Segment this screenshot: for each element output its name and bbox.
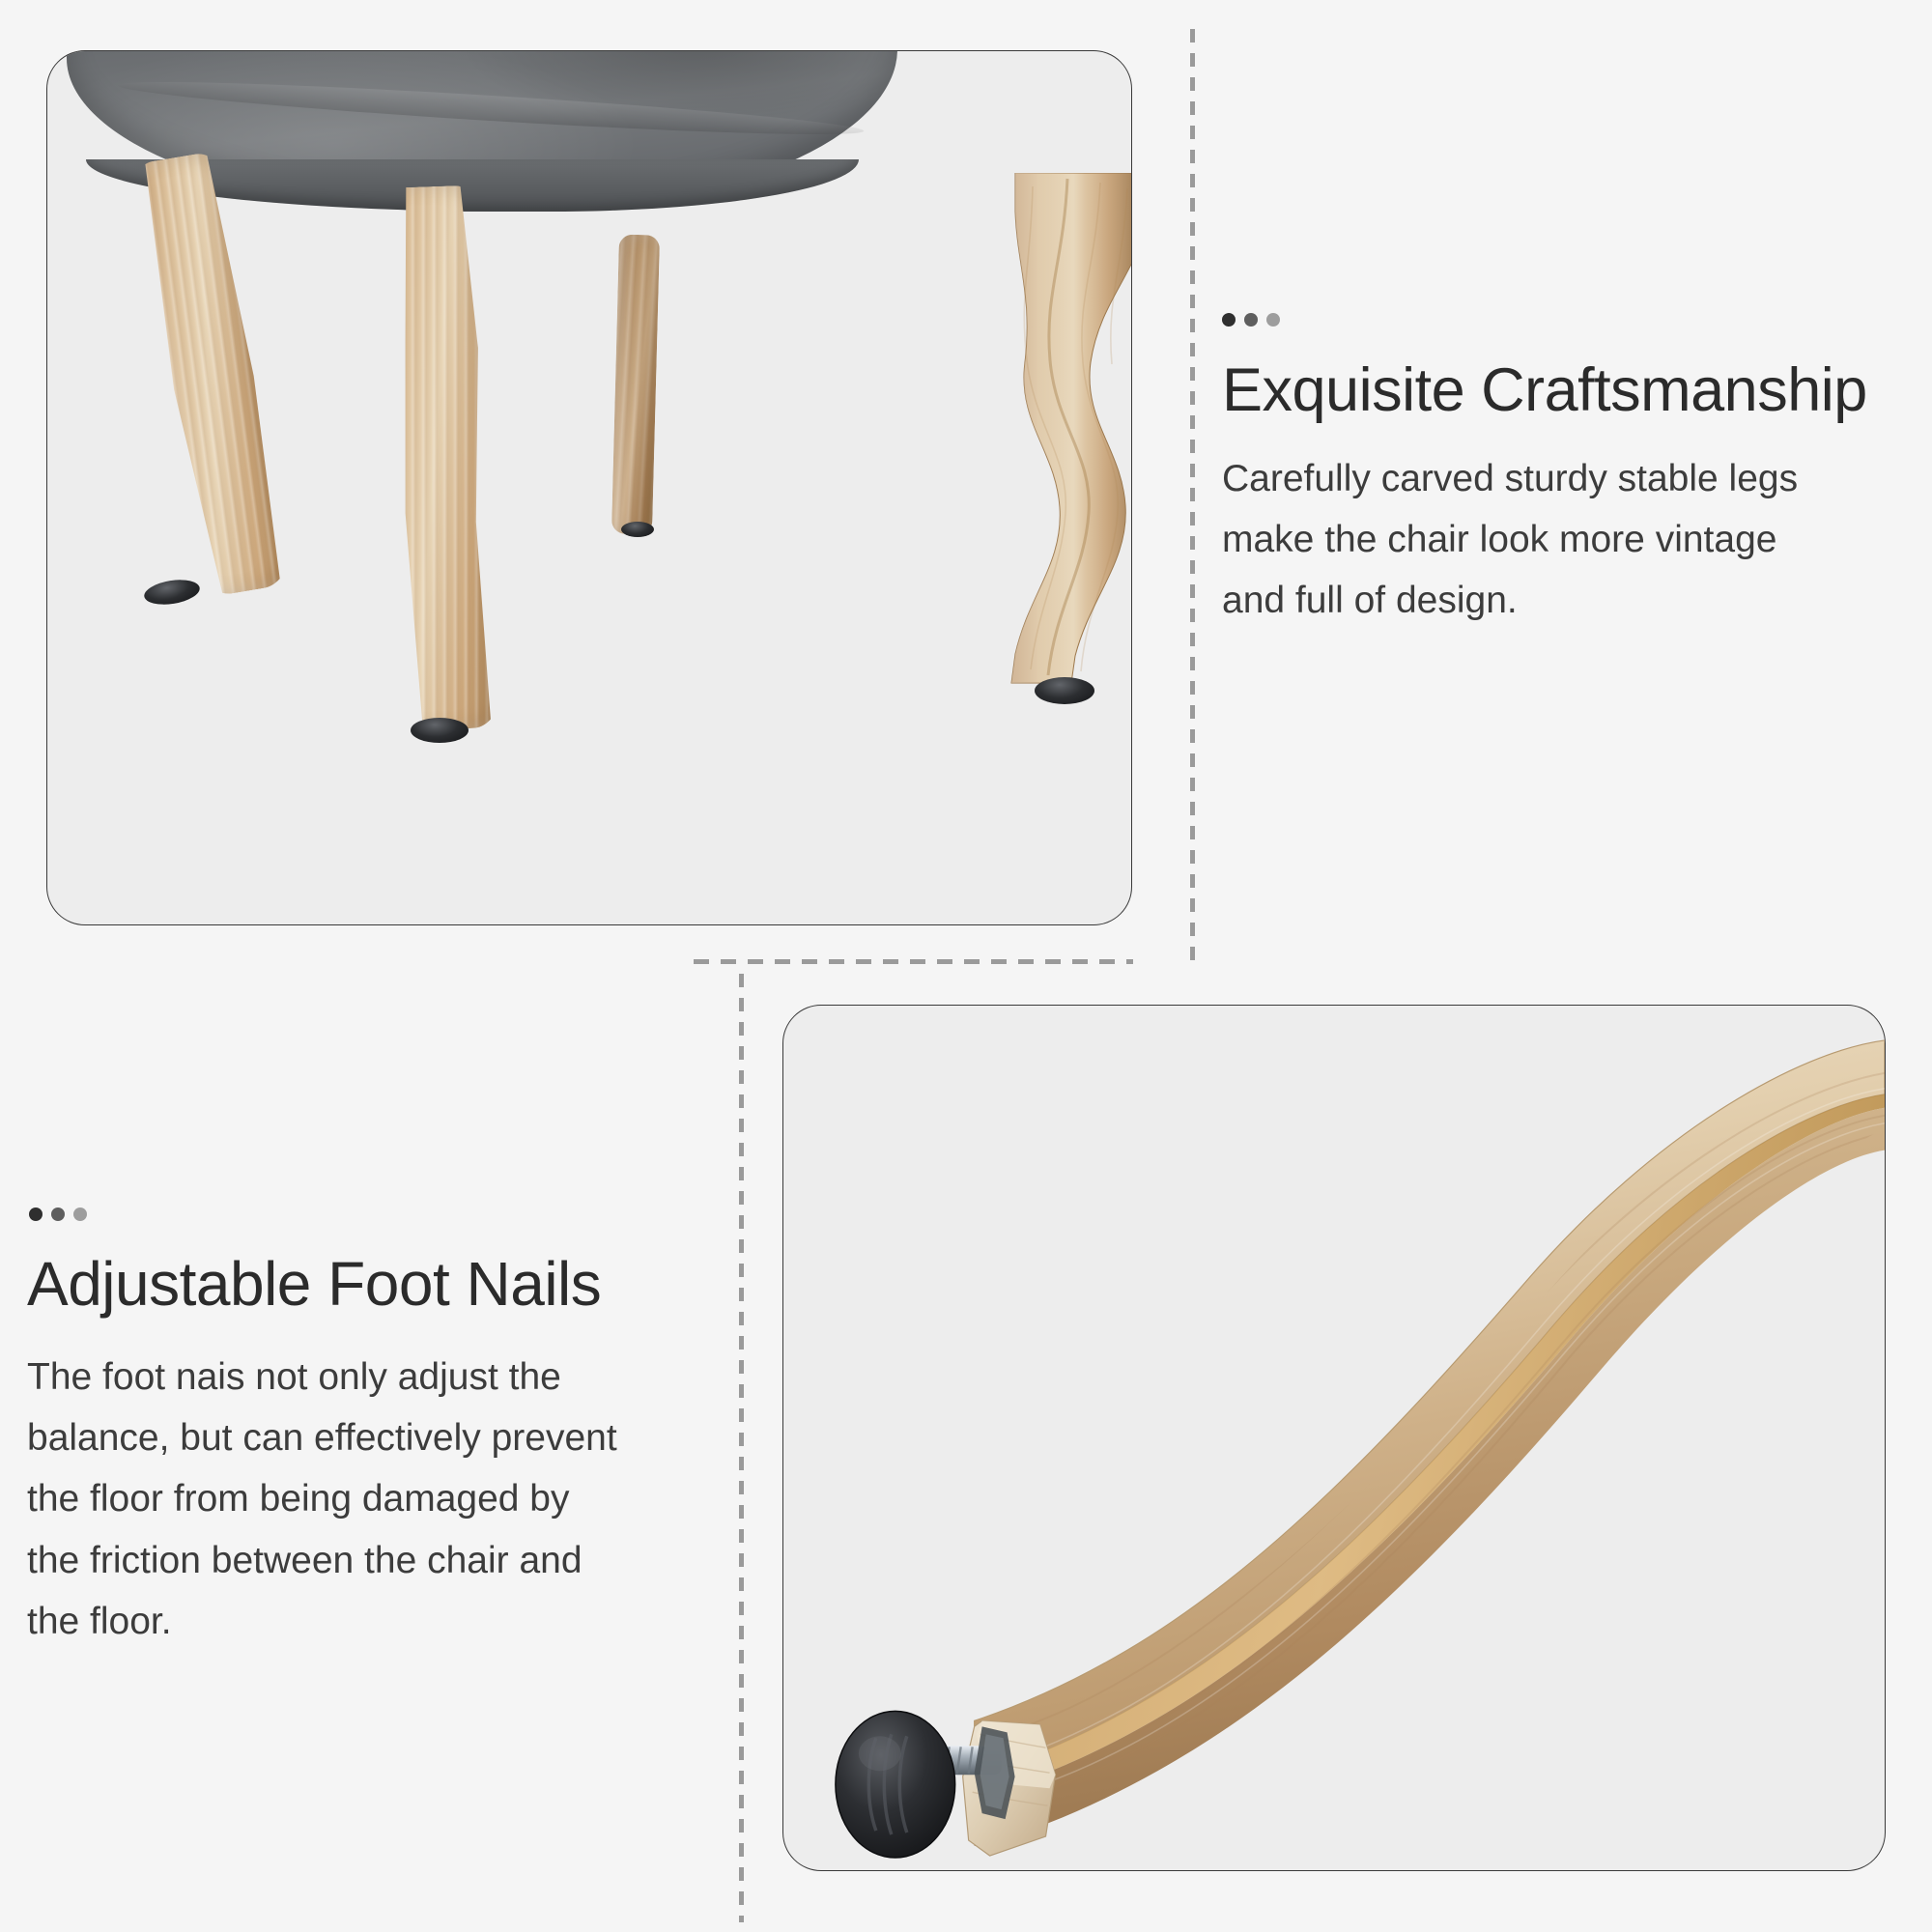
- dot-3: [1266, 313, 1280, 327]
- front-left-leg: [131, 150, 292, 598]
- feature-body-line: balance, but can effectively prevent: [27, 1417, 617, 1459]
- feature-title-foot-nails: Adjustable Foot Nails: [27, 1251, 723, 1318]
- feature-title-craftsmanship: Exquisite Craftsmanship: [1222, 357, 1927, 423]
- feature-body-line: Carefully carved sturdy stable legs: [1222, 458, 1798, 499]
- feature-body-line: make the chair look more vintage: [1222, 519, 1776, 560]
- divider-horizontal-mid: [694, 959, 1133, 964]
- dot-2: [51, 1207, 65, 1221]
- feature-block-foot-nails: Adjustable Foot Nails The foot nais not …: [27, 1251, 723, 1652]
- feature-body-line: and full of design.: [1222, 580, 1518, 621]
- foot-nail-front-middle-icon: [411, 718, 469, 743]
- feature-body-craftsmanship: Carefully carved sturdy stable legs make…: [1222, 448, 1927, 632]
- foot-nail-photo-panel: [782, 1005, 1886, 1871]
- dot-1: [1222, 313, 1236, 327]
- chair-legs-photo-panel: [46, 50, 1132, 925]
- feature-body-foot-nails: The foot nais not only adjust the balanc…: [27, 1347, 723, 1652]
- dots-decoration-foot-nails: [29, 1207, 87, 1221]
- chair-legs-illustration: [47, 51, 1131, 924]
- dots-decoration-craftsmanship: [1222, 313, 1280, 327]
- divider-vertical-top: [1190, 29, 1195, 962]
- dot-1: [29, 1207, 43, 1221]
- feature-body-line: the friction between the chair and: [27, 1540, 582, 1581]
- infographic-page: Exquisite Craftsmanship Carefully carved…: [0, 0, 1932, 1932]
- foot-nail-cabriole-icon: [1035, 677, 1094, 704]
- curved-leg-illustration: [783, 1006, 1885, 1870]
- feature-body-line: The foot nais not only adjust the: [27, 1356, 561, 1398]
- feature-body-line: the floor from being damaged by: [27, 1478, 570, 1520]
- divider-vertical-bottom: [739, 974, 744, 1922]
- rear-thin-leg: [611, 235, 660, 535]
- foot-nail-front-left-icon: [142, 577, 201, 609]
- foot-nail-rear-icon: [621, 522, 654, 537]
- feature-block-craftsmanship: Exquisite Craftsmanship Carefully carved…: [1222, 357, 1927, 632]
- feature-body-line: the floor.: [27, 1601, 172, 1642]
- cabriole-rear-right-leg: [955, 173, 1132, 695]
- dot-3: [73, 1207, 87, 1221]
- front-middle-leg: [378, 185, 497, 730]
- dot-2: [1244, 313, 1258, 327]
